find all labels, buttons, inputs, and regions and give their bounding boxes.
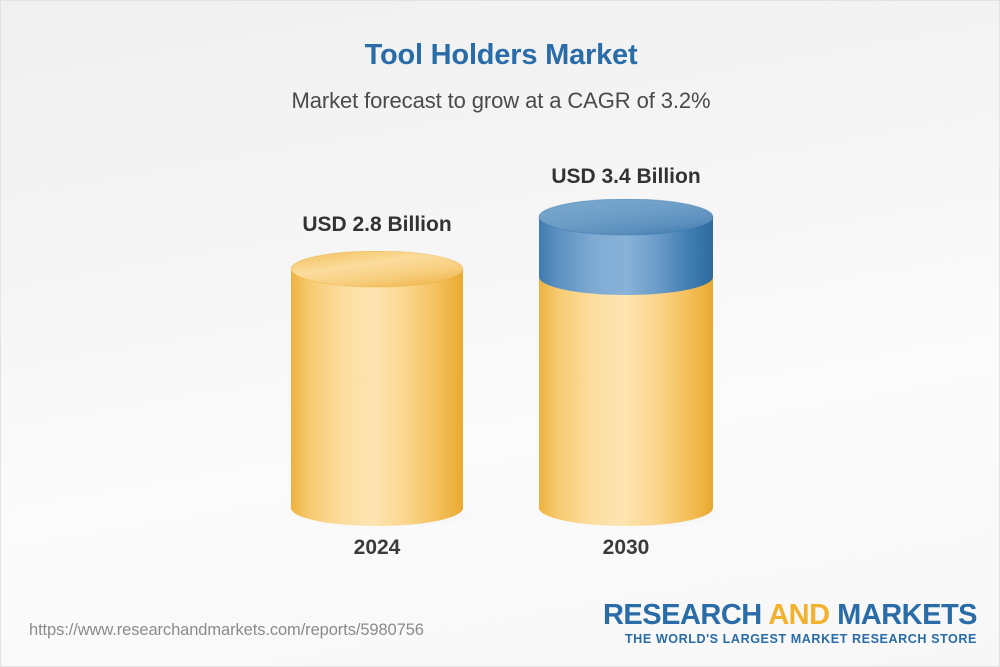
cylinder-2024	[283, 251, 471, 526]
brand-word-research: RESEARCH	[603, 599, 762, 631]
bar-group-2024: USD 2.8 Billion	[283, 151, 471, 571]
bar-value-label-2030: USD 3.4 Billion	[531, 165, 721, 189]
chart-card: Tool Holders Market Market forecast to g…	[0, 0, 1000, 667]
cylinder-2030	[531, 199, 721, 526]
bar-category-label-2030: 2030	[531, 536, 721, 560]
cylinder-2030-svg	[531, 199, 721, 526]
bar-value-label-2024: USD 2.8 Billion	[283, 213, 471, 237]
brand-word-and: AND	[768, 599, 829, 631]
brand-logo[interactable]: RESEARCH AND MARKETS THE WORLD'S LARGEST…	[603, 600, 977, 646]
brand-wordmark: RESEARCH AND MARKETS	[603, 600, 977, 630]
brand-word-markets: MARKETS	[837, 599, 977, 631]
brand-tagline: THE WORLD'S LARGEST MARKET RESEARCH STOR…	[603, 632, 977, 646]
plot-area: USD 2.8 Billion	[1, 1, 1000, 601]
footer-url[interactable]: https://www.researchandmarkets.com/repor…	[29, 621, 424, 640]
bar-category-label-2024: 2024	[283, 536, 471, 560]
cylinder-2024-svg	[283, 251, 471, 526]
bar-group-2030: USD 3.4 Billion	[531, 151, 721, 571]
